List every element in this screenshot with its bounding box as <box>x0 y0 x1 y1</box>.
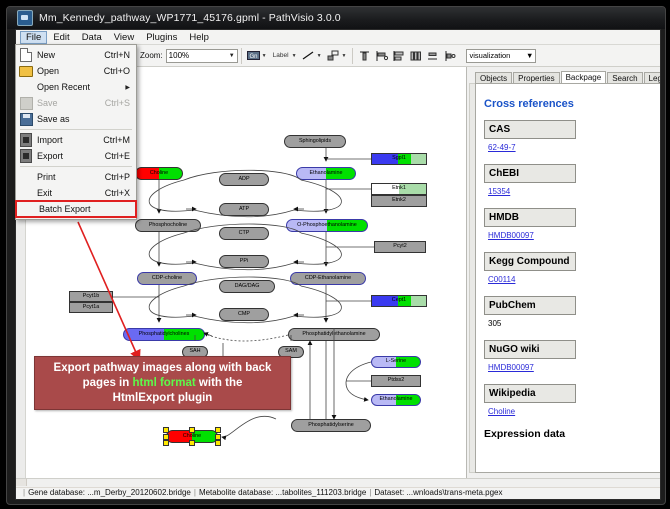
new-document-icon <box>18 49 34 62</box>
svg-text:Gn: Gn <box>249 54 257 60</box>
xref-value-hmdb[interactable]: HMDB00097 <box>488 231 534 240</box>
pathway-node-pcyt2[interactable]: Pcyt2 <box>374 241 426 253</box>
selection-handle[interactable] <box>215 434 221 440</box>
save-as-icon <box>18 113 34 126</box>
pathway-node-label: CMP <box>238 312 250 318</box>
pathway-node-phosphatidylcholines[interactable]: Phosphatidylcholines <box>123 328 205 341</box>
selection-handle[interactable] <box>215 440 221 446</box>
xref-value-wikipedia[interactable]: Choline <box>488 407 515 416</box>
file-menu-item-print[interactable]: PrintCtrl+P <box>16 169 136 185</box>
menu-view[interactable]: View <box>108 31 140 44</box>
stack-icon[interactable] <box>425 48 440 63</box>
toolbar-divider-2 <box>352 48 353 64</box>
pathway-node-cept1[interactable]: Cept1 <box>371 295 427 307</box>
file-menu-item-label: Save as <box>37 114 130 124</box>
file-menu-item-exit[interactable]: ExitCtrl+X <box>16 185 136 201</box>
file-menu-item-label: Open Recent <box>37 82 125 92</box>
status-sep-0: | <box>20 488 28 497</box>
datanode-tool-icon[interactable]: Gn <box>246 48 261 63</box>
selection-handle[interactable] <box>163 434 169 440</box>
toolbar-divider <box>241 48 242 64</box>
file-menu-popup[interactable]: NewCtrl+NOpenCtrl+OOpen Recent▶SaveCtrl+… <box>15 44 137 220</box>
visualization-combo[interactable]: visualization ▼ <box>466 49 536 63</box>
pathway-node-label: SAH <box>189 349 200 355</box>
xref-db-nugo-wiki: NuGO wiki <box>484 340 576 359</box>
pathway-node-label: L-Serine <box>386 359 406 365</box>
visualization-value: visualization <box>469 51 510 60</box>
status-bar: |Gene database: ...m_Derby_20120602.brid… <box>16 478 660 499</box>
label-tool-icon[interactable]: Label <box>271 48 291 63</box>
menu-data[interactable]: Data <box>76 31 108 44</box>
pathway-node-label: CDP-choline <box>152 276 182 282</box>
pathway-node-etnk2[interactable]: Etnk2 <box>371 195 427 207</box>
pathway-node-cdp-ethanolamine[interactable]: CDP-Ethanolamine <box>290 272 366 285</box>
zoom-combo[interactable]: 100% ▼ <box>166 49 238 63</box>
file-menu-item-save-as[interactable]: Save as <box>16 111 136 127</box>
file-menu-item-label: Export <box>37 151 105 161</box>
menu-bar: File Edit Data View Plugins Help <box>16 30 660 45</box>
save-disabled-icon <box>18 97 34 110</box>
pathway-node-choline-top[interactable]: Choline <box>135 167 183 180</box>
file-menu-item-shortcut: Ctrl+O <box>104 66 136 76</box>
screenshot-root: Mm_Kennedy_pathway_WP1771_45176.gpml - P… <box>0 0 670 509</box>
file-menu-item-label: Print <box>37 172 105 182</box>
xref-value-wrap: Choline <box>488 407 658 416</box>
menu-file[interactable]: File <box>20 31 47 44</box>
pathway-node-label: Choline <box>150 171 168 177</box>
xref-value-nugo-wiki[interactable]: HMDB00097 <box>488 363 534 372</box>
pathway-node-phosphocholine[interactable]: Phosphocholine <box>135 219 201 232</box>
align-left-icon[interactable] <box>374 48 389 63</box>
xref-db-pubchem: PubChem <box>484 296 576 315</box>
selection-handle[interactable] <box>215 427 221 433</box>
file-menu-item-label: Import <box>37 135 103 145</box>
chevron-down-icon: ▼ <box>229 53 235 59</box>
xref-db-wikipedia: Wikipedia <box>484 384 576 403</box>
pathway-node-dag-dag[interactable]: DAG/DAG <box>219 280 275 293</box>
pathway-node-etnk1[interactable]: Etnk1 <box>371 183 427 195</box>
shape-dropdown-icon[interactable]: ▼ <box>342 53 347 59</box>
status-metabolite-database: Metabolite database: ...tabolites_111203… <box>199 488 366 497</box>
chevron-right-icon: ▶ <box>125 84 136 91</box>
xref-value-chebi[interactable]: 15354 <box>488 187 510 196</box>
no-icon <box>18 171 34 184</box>
zoom-value: 100% <box>169 51 189 60</box>
xref-db-chebi: ChEBI <box>484 164 576 183</box>
file-menu-item-label: Save <box>37 98 105 108</box>
pathway-node-sphingolipids[interactable]: Sphingolipids <box>284 135 346 148</box>
file-menu-item-label: Exit <box>37 188 105 198</box>
file-menu-item-shortcut: Ctrl+E <box>105 151 136 161</box>
xref-value-kegg-compound[interactable]: C00114 <box>488 275 515 284</box>
pathway-node-label: Sphingolipids <box>299 139 331 145</box>
menu-plugins[interactable]: Plugins <box>140 31 183 44</box>
align-top-icon[interactable] <box>357 48 372 63</box>
sidebar-tabs: Objects Properties Backpage Search Legen… <box>475 69 660 84</box>
xref-value-wrap: HMDB00097 <box>488 363 658 372</box>
backpage-sidebar: Objects Properties Backpage Search Legen… <box>467 67 660 478</box>
align-rows-icon[interactable] <box>391 48 406 63</box>
pathway-node-label: Phosphatidylcholines <box>139 332 190 338</box>
pathway-node-label: SAM <box>285 349 297 355</box>
file-menu-item-label: Batch Export <box>37 204 130 214</box>
xref-value-wrap: 15354 <box>488 187 658 196</box>
cross-references-heading: Cross references <box>484 98 658 110</box>
expression-data-heading: Expression data <box>484 428 658 440</box>
file-menu-item-label: New <box>37 50 104 60</box>
line-dropdown-icon[interactable]: ▼ <box>317 53 322 59</box>
no-icon <box>18 187 34 200</box>
menu-help[interactable]: Help <box>183 31 215 44</box>
label-dropdown-icon[interactable]: ▼ <box>292 53 297 59</box>
pathway-node-label: ADP <box>238 177 249 183</box>
pathway-node-phosphatidylserine[interactable]: Phosphatidylserine <box>291 419 371 432</box>
title-bar: Mm_Kennedy_pathway_WP1771_45176.gpml - P… <box>7 7 665 29</box>
annotation-callout: Export pathway images along with back pa… <box>34 356 291 410</box>
status-dataset: Dataset: ...wnloads\trans-meta.pgex <box>374 488 502 497</box>
import-icon <box>18 134 34 147</box>
zoom-label: Zoom: <box>140 51 163 60</box>
file-menu-item-export[interactable]: ExportCtrl+E <box>16 148 136 164</box>
pathway-node-adp[interactable]: ADP <box>219 173 269 186</box>
xref-value-wrap: HMDB00097 <box>488 231 658 240</box>
pathway-node-l-serine[interactable]: L-Serine <box>371 356 421 368</box>
pathway-node-label: Choline <box>183 434 201 440</box>
pathway-node-label: Pcyt2 <box>393 244 406 250</box>
status-sep-1: | <box>191 488 199 497</box>
file-menu-item-batch-export[interactable]: Batch Export <box>16 201 136 217</box>
callout-line-2-post: with the <box>196 377 243 389</box>
pathway-node-label: Ethanolamine <box>310 171 343 177</box>
pathway-node-cmp[interactable]: CMP <box>219 308 269 321</box>
pathway-node-label: ATP <box>239 207 249 213</box>
pathway-node-cdp-choline[interactable]: CDP-choline <box>137 272 197 285</box>
pathway-node-label: Sgpl1 <box>392 156 406 162</box>
pathway-node-label: Ethanolamine <box>380 397 413 403</box>
file-menu-item-open[interactable]: OpenCtrl+O <box>16 63 136 79</box>
pathway-node-label: O-Phosphoethanolamine <box>297 223 357 229</box>
pathway-node-label: DAG/DAG <box>235 284 260 290</box>
file-menu-item-save[interactable]: SaveCtrl+S <box>16 95 136 111</box>
xref-value-cas[interactable]: 62-49-7 <box>488 143 516 152</box>
selection-handle[interactable] <box>189 440 195 446</box>
pathway-node-label: PPi <box>240 259 248 265</box>
backpage-content: Cross references CAS62-49-7ChEBI15354HMD… <box>475 83 660 473</box>
pathway-node-o-phosphoethanolamine[interactable]: O-Phosphoethanolamine <box>286 219 368 232</box>
window-title: Mm_Kennedy_pathway_WP1771_45176.gpml - P… <box>39 12 341 24</box>
pathway-node-label: Phosphatidylserine <box>308 423 354 429</box>
pathway-node-ethanolamine-top[interactable]: Ethanolamine <box>296 167 356 180</box>
file-menu-item-new[interactable]: NewCtrl+N <box>16 47 136 63</box>
callout-line-2-pre: pages in <box>83 377 133 389</box>
pathway-node-label: CTP <box>239 231 250 237</box>
selection-handle[interactable] <box>189 427 195 433</box>
xref-value-wrap: C00114 <box>488 275 658 284</box>
pathway-node-label: Etnk2 <box>392 198 406 204</box>
chevron-down-icon-2: ▼ <box>526 51 533 60</box>
pathway-node-label: Pcyt1a <box>83 305 99 311</box>
file-menu-separator <box>20 129 132 130</box>
pathway-node-pcyt1b[interactable]: Pcyt1b <box>69 291 113 302</box>
pathway-node-label: Phosphatidylethanolamine <box>302 332 365 338</box>
pathway-node-ethanolamine-bot[interactable]: Ethanolamine <box>371 394 421 406</box>
horizontal-scrollbar[interactable] <box>16 479 660 488</box>
line-tool-icon[interactable] <box>301 48 316 63</box>
selection-handle[interactable] <box>163 427 169 433</box>
xref-db-kegg-compound: Kegg Compound <box>484 252 576 271</box>
pathway-node-label: CDP-Ethanolamine <box>305 276 351 282</box>
status-text: |Gene database: ...m_Derby_20120602.brid… <box>20 488 502 497</box>
pathway-node-ctp[interactable]: CTP <box>219 227 269 240</box>
file-menu-item-label: Open <box>37 66 104 76</box>
no-icon <box>18 203 34 216</box>
pathway-node-label: Etnk1 <box>392 186 406 192</box>
file-menu-separator <box>20 166 132 167</box>
align-cols-icon[interactable] <box>408 48 423 63</box>
status-gene-database: Gene database: ...m_Derby_20120602.bridg… <box>28 488 191 497</box>
file-menu-item-shortcut: Ctrl+N <box>104 50 136 60</box>
pathway-node-label: Pcyt1b <box>83 294 99 300</box>
pathway-node-ptdss2[interactable]: Ptdss2 <box>371 375 421 387</box>
export-icon <box>18 150 34 163</box>
pathway-node-ppi[interactable]: PPi <box>219 255 269 268</box>
pathway-node-label: Cept1 <box>392 298 406 304</box>
xref-value-pubchem: 305 <box>488 319 501 328</box>
xref-db-cas: CAS <box>484 120 576 139</box>
file-menu-item-import[interactable]: ImportCtrl+M <box>16 132 136 148</box>
file-menu-item-shortcut: Ctrl+S <box>105 98 136 108</box>
callout-line-3: HtmlExport plugin <box>113 391 213 406</box>
xref-value-wrap: 305 <box>488 319 658 328</box>
pathway-node-label: Ptdss2 <box>388 378 404 384</box>
scroll-left-button[interactable] <box>16 479 27 486</box>
pathway-node-pcyt1a[interactable]: Pcyt1a <box>69 302 113 313</box>
xref-db-hmdb: HMDB <box>484 208 576 227</box>
pathway-node-phosphatidylethanolamine[interactable]: Phosphatidylethanolamine <box>288 328 380 341</box>
callout-line-1: Export pathway images along with back <box>54 361 272 376</box>
cross-reference-list: CAS62-49-7ChEBI15354HMDBHMDB00097Kegg Co… <box>480 120 658 416</box>
pathway-node-sgpl1[interactable]: Sgpl1 <box>371 153 427 165</box>
open-folder-icon <box>18 65 34 78</box>
datanode-dropdown-icon[interactable]: ▼ <box>262 53 267 59</box>
file-menu-item-shortcut: Ctrl+M <box>103 135 136 145</box>
file-menu-item-shortcut: Ctrl+P <box>105 172 136 182</box>
file-menu-item-shortcut: Ctrl+X <box>105 188 136 198</box>
no-icon <box>18 81 34 94</box>
selection-handle[interactable] <box>163 440 169 446</box>
file-menu-item-open-recent[interactable]: Open Recent▶ <box>16 79 136 95</box>
pathway-node-label: Phosphocholine <box>149 223 187 229</box>
application-window: Mm_Kennedy_pathway_WP1771_45176.gpml - P… <box>6 6 666 505</box>
callout-highlight: html format <box>132 377 195 389</box>
shape-tool-icon[interactable] <box>326 48 341 63</box>
xref-value-wrap: 62-49-7 <box>488 143 658 152</box>
pathway-node-atp[interactable]: ATP <box>219 203 269 216</box>
group-icon[interactable] <box>442 48 457 63</box>
pathvisio-icon <box>17 10 33 26</box>
menu-edit[interactable]: Edit <box>47 31 75 44</box>
callout-line-2: pages in html format with the <box>83 376 243 391</box>
